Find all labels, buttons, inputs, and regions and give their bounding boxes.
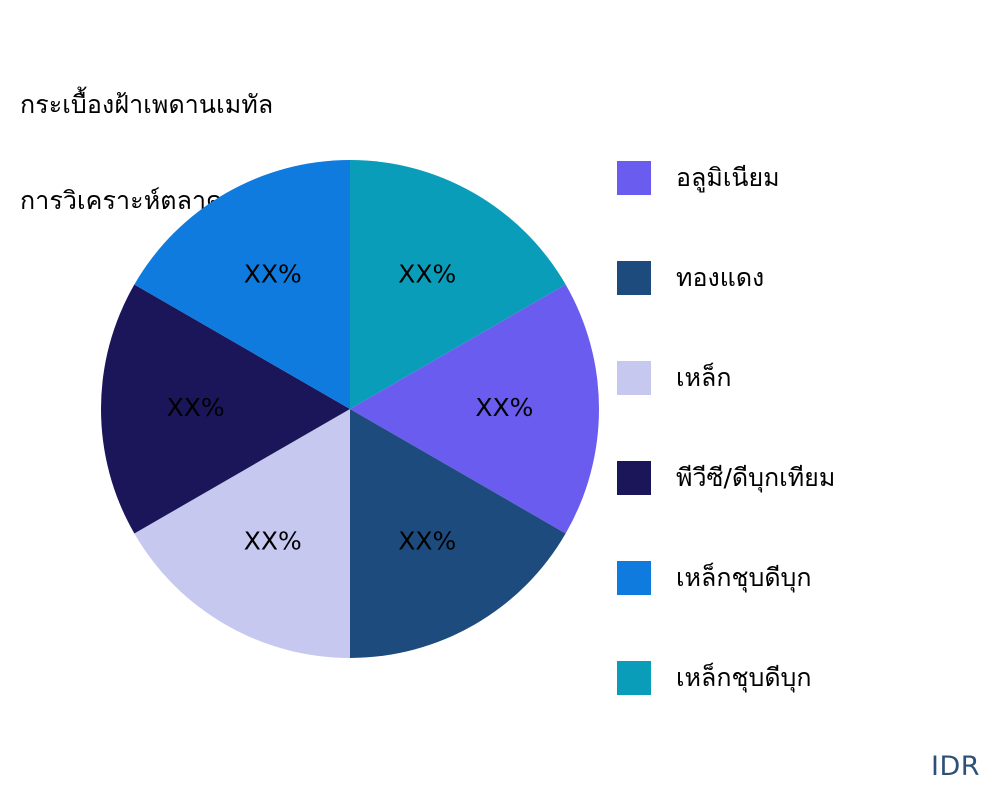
legend-item-1[interactable]: ทองแดง	[617, 261, 987, 361]
legend-item-4[interactable]: เหล็กชุบดีบุก	[617, 561, 987, 661]
legend-label-5: เหล็กชุบดีบุก	[676, 657, 812, 699]
legend-swatch-icon-1	[617, 261, 651, 295]
pie-slice-label-5: XX%	[244, 259, 302, 288]
pie-slice-label-0: XX%	[398, 259, 456, 288]
watermark: IDR	[931, 751, 980, 782]
legend-item-3[interactable]: พีวีซี/ดีบุกเทียม	[617, 461, 987, 561]
pie-chart-svg: XX%XX%XX%XX%XX%XX%	[101, 160, 599, 658]
legend-swatch-icon-2	[617, 361, 651, 395]
pie-slice-label-2: XX%	[398, 527, 456, 556]
legend-swatch-icon-0	[617, 161, 651, 195]
pie-slice-label-3: XX%	[244, 527, 302, 556]
title-line-1: กระเบื้องฝ้าเพดานเมทัล	[20, 89, 354, 121]
legend-item-2[interactable]: เหล็ก	[617, 361, 987, 461]
legend-label-3: พีวีซี/ดีบุกเทียม	[676, 457, 835, 499]
pie-slice-label-1: XX%	[475, 393, 533, 422]
legend-label-2: เหล็ก	[676, 357, 731, 399]
legend-swatch-icon-5	[617, 661, 651, 695]
legend-label-0: อลูมิเนียม	[676, 157, 780, 199]
pie-slice-label-4: XX%	[167, 393, 225, 422]
legend-label-4: เหล็กชุบดีบุก	[676, 557, 812, 599]
legend-item-0[interactable]: อลูมิเนียม	[617, 161, 987, 261]
legend-swatch-icon-4	[617, 561, 651, 595]
pie-chart: XX%XX%XX%XX%XX%XX%	[101, 160, 599, 658]
legend: อลูมิเนียม ทองแดง เหล็ก พีวีซี/ดีบุกเทีย…	[617, 161, 987, 761]
legend-item-5[interactable]: เหล็กชุบดีบุก	[617, 661, 987, 761]
legend-swatch-icon-3	[617, 461, 651, 495]
legend-label-1: ทองแดง	[676, 257, 764, 299]
